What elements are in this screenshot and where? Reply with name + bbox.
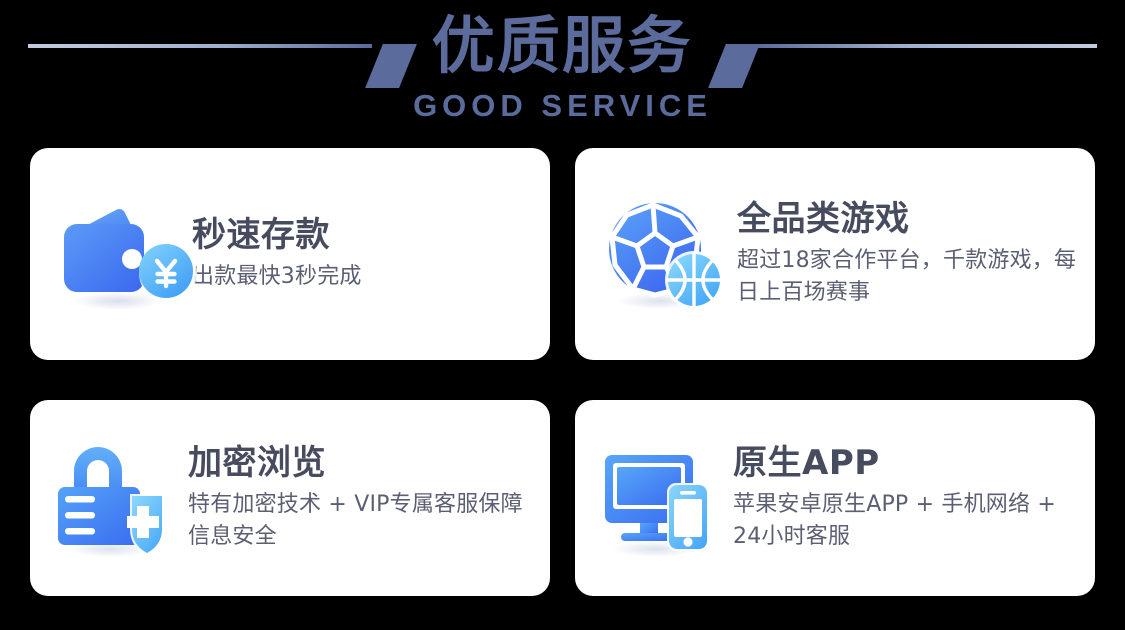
card-description: 特有加密技术 + VIP专属客服保障信息安全	[188, 489, 532, 553]
feature-card-grid: 秒速存款 出款最快3秒完成	[30, 148, 1095, 596]
page-title: 优质服务	[432, 15, 693, 77]
page-subtitle: GOOD SERVICE	[413, 90, 712, 121]
feature-card-games[interactable]: 全品类游戏 超过18家合作平台，千款游戏，每日上百场赛事	[575, 148, 1095, 360]
feature-card-deposit[interactable]: 秒速存款 出款最快3秒完成	[30, 148, 550, 360]
feature-card-text: 原生APP 苹果安卓原生APP + 手机网络 + 24小时客服	[733, 444, 1077, 553]
page-header: 优质服务 GOOD SERVICE	[0, 0, 1125, 140]
feature-card-text: 加密浏览 特有加密技术 + VIP专属客服保障信息安全	[188, 444, 532, 553]
card-description: 苹果安卓原生APP + 手机网络 + 24小时客服	[733, 489, 1077, 553]
header-title-row: 优质服务	[0, 0, 1125, 92]
monitor-phone-icon	[597, 437, 719, 559]
card-title: 全品类游戏	[737, 200, 1077, 239]
card-title: 加密浏览	[188, 444, 532, 483]
page-root: 优质服务 GOOD SERVICE	[0, 0, 1125, 630]
card-description: 出款最快3秒完成	[192, 261, 532, 293]
feature-card-native-app[interactable]: 原生APP 苹果安卓原生APP + 手机网络 + 24小时客服	[575, 400, 1095, 596]
card-title: 秒速存款	[192, 216, 532, 255]
feature-card-text: 秒速存款 出款最快3秒完成	[192, 216, 532, 293]
feature-card-encryption[interactable]: 加密浏览 特有加密技术 + VIP专属客服保障信息安全	[30, 400, 550, 596]
wallet-icon	[56, 193, 178, 315]
lock-shield-icon	[52, 437, 174, 559]
soccer-basketball-icon	[601, 193, 723, 315]
feature-card-text: 全品类游戏 超过18家合作平台，千款游戏，每日上百场赛事	[737, 200, 1077, 309]
card-description: 超过18家合作平台，千款游戏，每日上百场赛事	[737, 245, 1077, 309]
card-title: 原生APP	[733, 444, 1077, 483]
